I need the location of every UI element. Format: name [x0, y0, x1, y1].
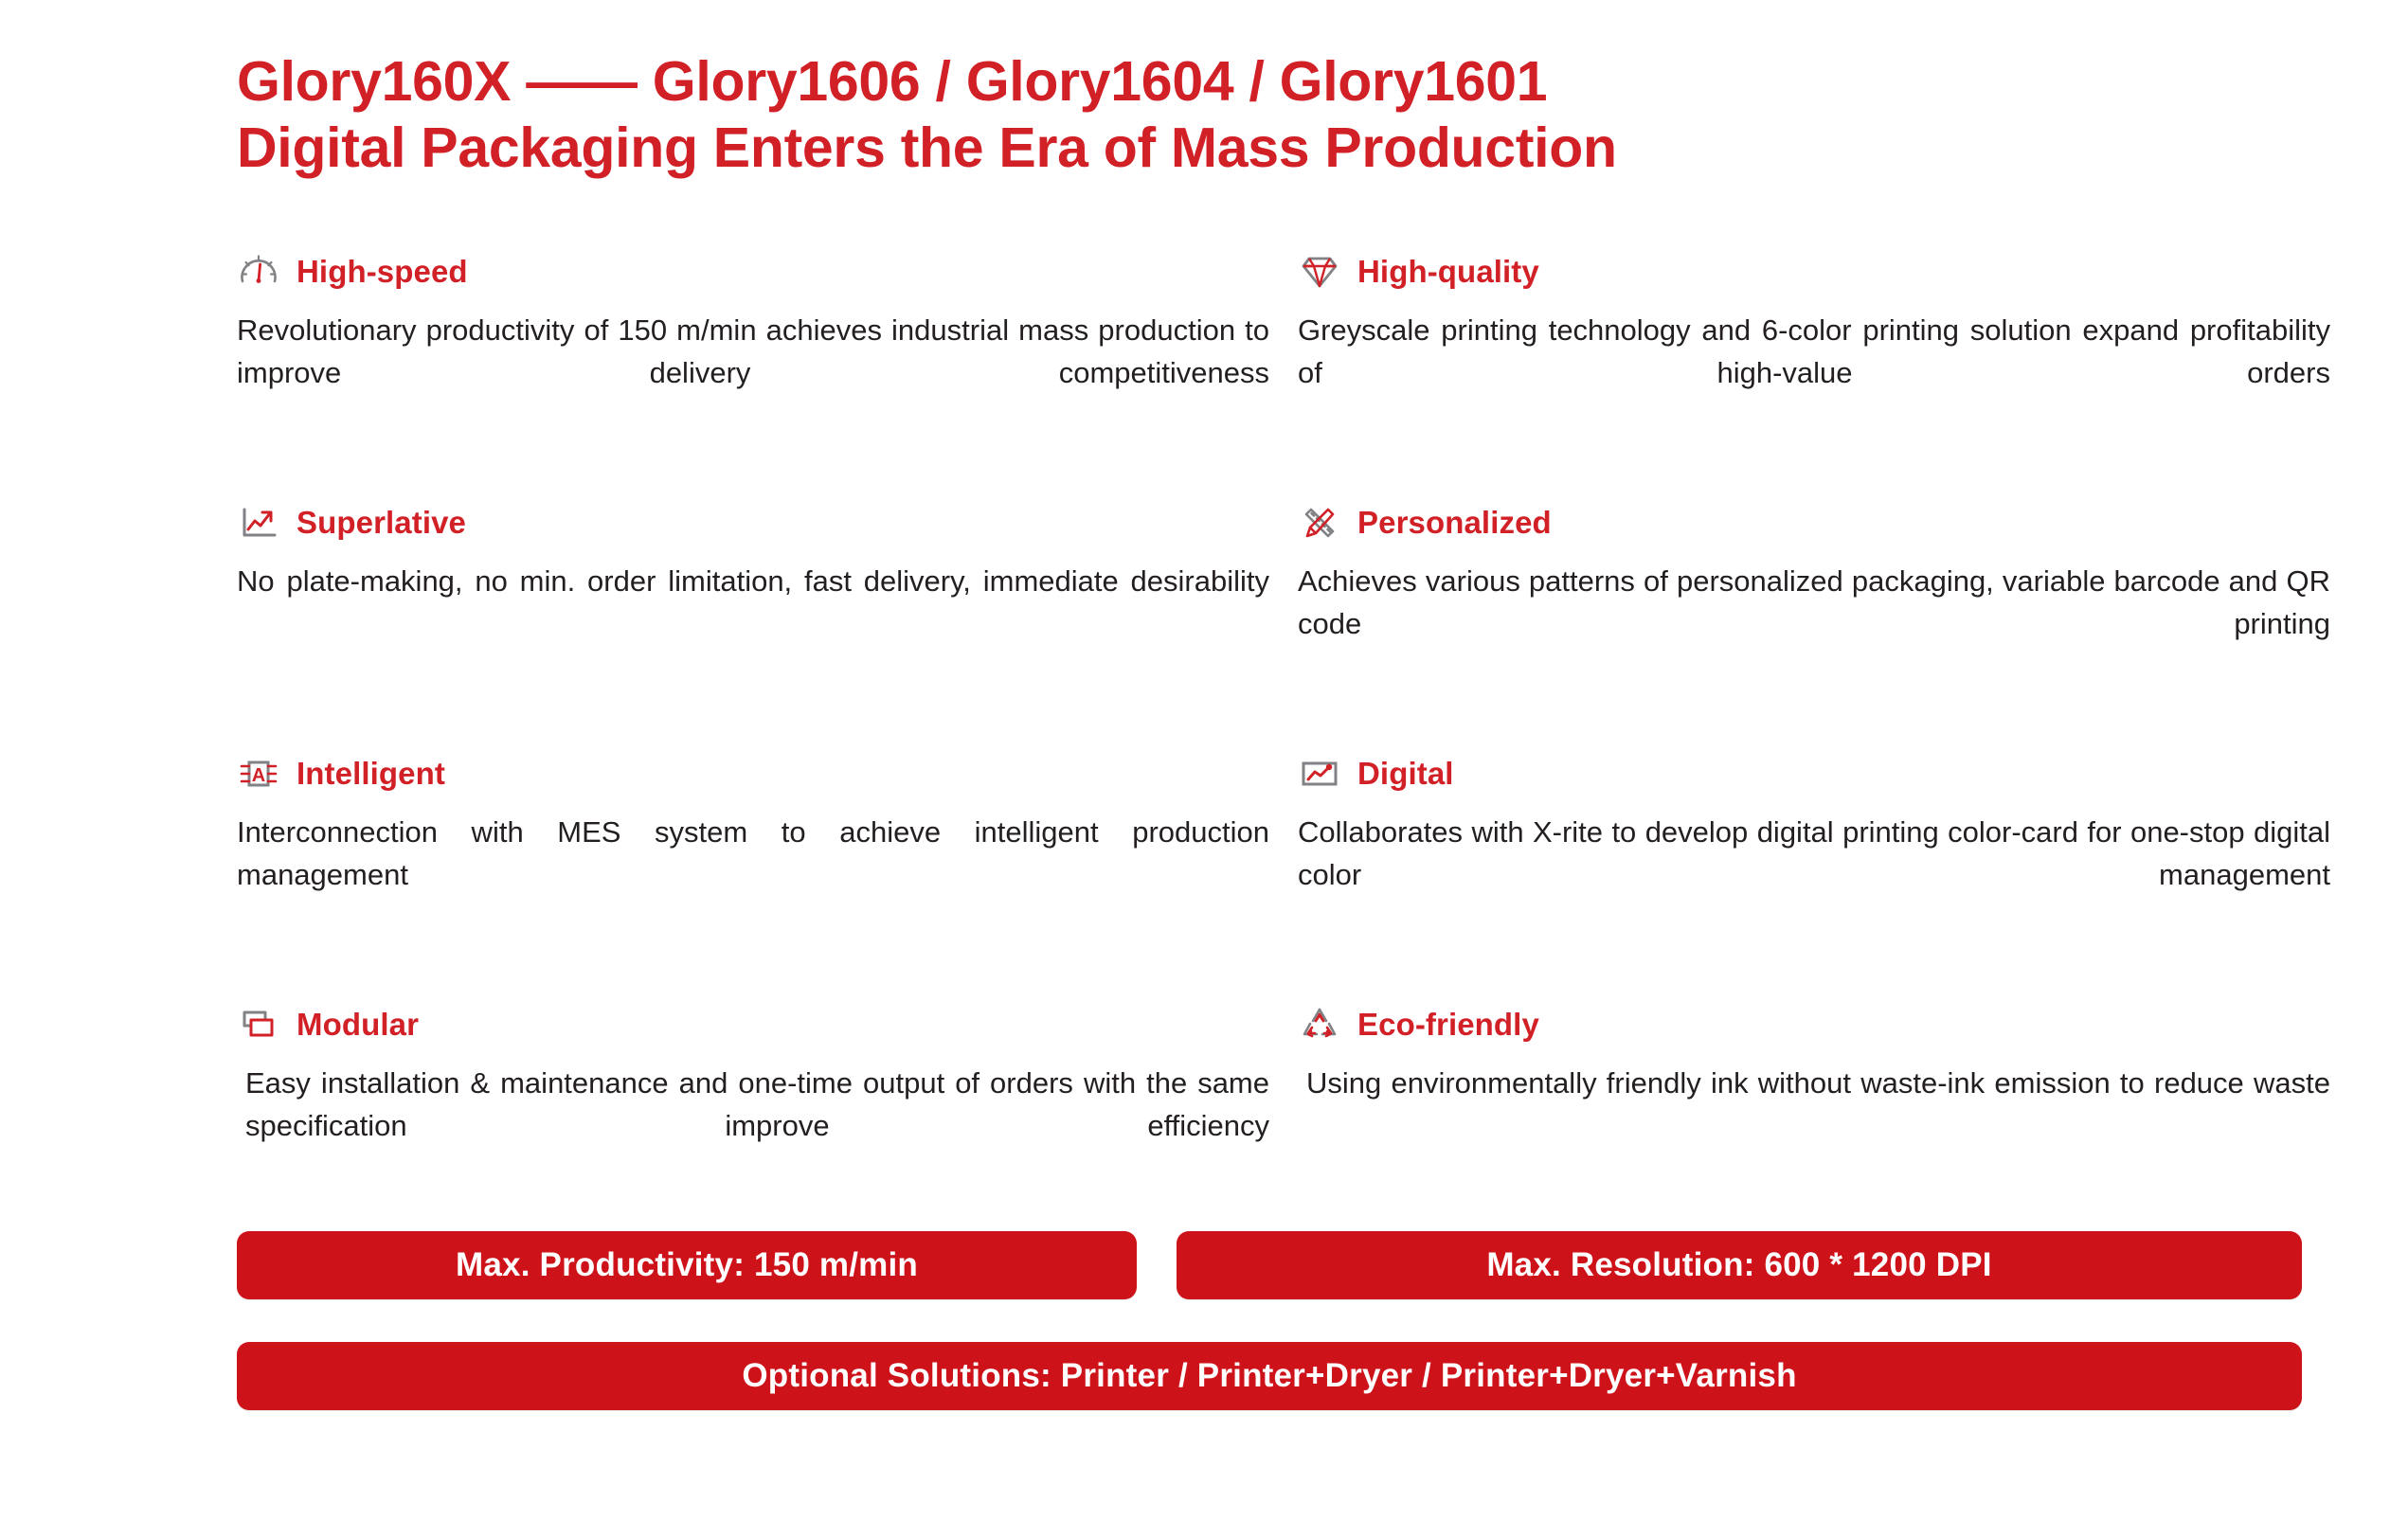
banner-optional-solutions: Optional Solutions: Printer / Printer+Dr…	[237, 1342, 2302, 1410]
feature-grid: High-speed Revolutionary productivity of…	[237, 245, 2171, 1249]
spec-banners: Max. Productivity: 150 m/min Max. Resolu…	[237, 1231, 2302, 1410]
feature-header: High-quality	[1298, 245, 2330, 298]
pen-ruler-icon	[1298, 501, 1341, 545]
feature-title: Digital	[1357, 756, 1454, 792]
feature-title: High-quality	[1357, 254, 1539, 290]
trend-chart-icon	[237, 501, 280, 545]
page-title-line-2: Digital Packaging Enters the Era of Mass…	[237, 116, 2171, 182]
slide-page: Glory160X —— Glory1606 / Glory1604 / Glo…	[0, 0, 2408, 1538]
feature-header: Eco-friendly	[1298, 998, 2330, 1051]
feature-high-quality: High-quality Greyscale printing technolo…	[1298, 245, 2330, 436]
feature-header: Digital	[1298, 747, 2330, 800]
feature-description: Easy installation & maintenance and one-…	[237, 1063, 1269, 1189]
feature-digital: Digital Collaborates with X-rite to deve…	[1298, 747, 2330, 938]
feature-title: Superlative	[297, 505, 466, 541]
diamond-icon	[1298, 250, 1341, 294]
recycle-icon	[1298, 1003, 1341, 1046]
banner-max-productivity: Max. Productivity: 150 m/min	[237, 1231, 1137, 1299]
feature-description: Using environmentally friendly ink witho…	[1298, 1063, 2330, 1147]
spec-banner-row: Max. Productivity: 150 m/min Max. Resolu…	[237, 1231, 2302, 1299]
banner-max-resolution: Max. Resolution: 600 * 1200 DPI	[1177, 1231, 2302, 1299]
feature-description: No plate-making, no min. order limitatio…	[237, 561, 1269, 645]
feature-description: Interconnection with MES system to achie…	[237, 812, 1269, 938]
feature-title: Eco-friendly	[1357, 1007, 1539, 1043]
feature-description: Achieves various patterns of personalize…	[1298, 561, 2330, 687]
feature-header: A Intelligent	[237, 747, 1269, 800]
feature-title: Intelligent	[297, 756, 445, 792]
feature-modular: Modular Easy installation & maintenance …	[237, 998, 1269, 1189]
feature-intelligent: A Intelligent Interconnection with MES s…	[237, 747, 1269, 938]
page-title: Glory160X —— Glory1606 / Glory1604 / Glo…	[237, 0, 2171, 181]
feature-high-speed: High-speed Revolutionary productivity of…	[237, 245, 1269, 436]
feature-eco-friendly: Eco-friendly Using environmentally frien…	[1298, 998, 2330, 1189]
feature-description: Revolutionary productivity of 150 m/min …	[237, 310, 1269, 436]
feature-title: Modular	[297, 1007, 419, 1043]
feature-header: Personalized	[1298, 496, 2330, 549]
feature-title: High-speed	[297, 254, 468, 290]
modules-icon	[237, 1003, 280, 1046]
cpu-chip-icon: A	[237, 752, 280, 796]
speedometer-icon	[237, 250, 280, 294]
feature-superlative: Superlative No plate-making, no min. ord…	[237, 496, 1269, 687]
feature-description: Collaborates with X-rite to develop digi…	[1298, 812, 2330, 938]
feature-header: Superlative	[237, 496, 1269, 549]
feature-header: High-speed	[237, 245, 1269, 298]
feature-description: Greyscale printing technology and 6-colo…	[1298, 310, 2330, 436]
feature-personalized: Personalized Achieves various patterns o…	[1298, 496, 2330, 687]
feature-header: Modular	[237, 998, 1269, 1051]
feature-title: Personalized	[1357, 505, 1552, 541]
page-title-line-1: Glory160X —— Glory1606 / Glory1604 / Glo…	[237, 49, 2171, 116]
svg-text:A: A	[252, 765, 265, 786]
framed-chart-icon	[1298, 752, 1341, 796]
